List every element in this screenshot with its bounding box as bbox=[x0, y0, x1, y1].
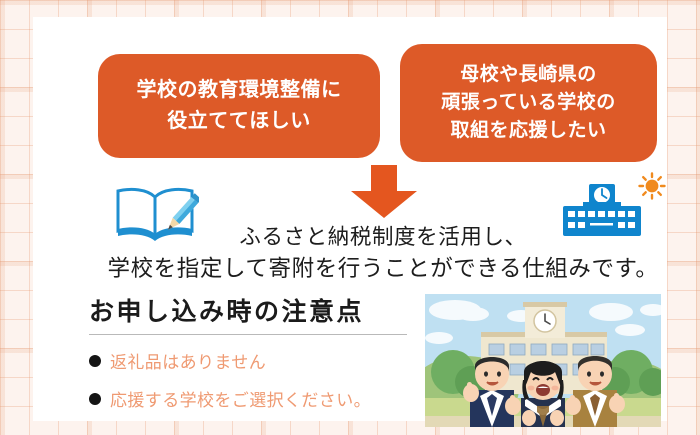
bubble-wish-support-line-3: 取組を応援したい bbox=[441, 117, 616, 145]
sun-icon bbox=[638, 172, 666, 200]
bubble-wish-support-line-2: 頑張っている学校の bbox=[441, 89, 616, 117]
notes-section: お申し込み時の注意点 返礼品はありません 応援する学校をご選択ください。 bbox=[89, 295, 419, 411]
main-statement-line-2: 学校を指定して寄附を行うことができる仕組みです。 bbox=[66, 253, 700, 285]
main-statement: ふるさと納税制度を活用し、 学校を指定して寄附を行うことができる仕組みです。 bbox=[66, 221, 700, 285]
main-statement-line-1: ふるさと納税制度を活用し、 bbox=[66, 221, 700, 253]
bubble-wish-education-line-2: 役立ててほしい bbox=[137, 106, 342, 137]
bubble-wish-education-line-1: 学校の教育環境整備に bbox=[137, 75, 342, 106]
notes-divider bbox=[89, 334, 407, 335]
bubble-wish-education: 学校の教育環境整備に 役立ててほしい bbox=[98, 54, 380, 158]
bubble-wish-support-line-1: 母校や長崎県の bbox=[441, 61, 616, 89]
bullet-dot-icon bbox=[89, 355, 101, 367]
bubble-wish-support: 母校や長崎県の 頑張っている学校の 取組を応援したい bbox=[400, 44, 657, 162]
note-item: 返礼品はありません bbox=[89, 348, 419, 373]
note-item-label: 返礼品はありません bbox=[110, 348, 266, 373]
bullet-dot-icon bbox=[89, 393, 101, 405]
notes-title: お申し込み時の注意点 bbox=[89, 295, 419, 329]
note-item: 応援する学校をご選択ください。 bbox=[89, 386, 419, 411]
note-item-label: 応援する学校をご選択ください。 bbox=[110, 386, 371, 411]
poster-root: 学校の教育環境整備に 役立ててほしい 母校や長崎県の 頑張っている学校の 取組を… bbox=[0, 0, 700, 435]
down-arrow-icon bbox=[351, 165, 417, 218]
white-card: 学校の教育環境整備に 役立ててほしい 母校や長崎県の 頑張っている学校の 取組を… bbox=[33, 17, 667, 421]
school-and-people-illustration bbox=[425, 294, 661, 427]
